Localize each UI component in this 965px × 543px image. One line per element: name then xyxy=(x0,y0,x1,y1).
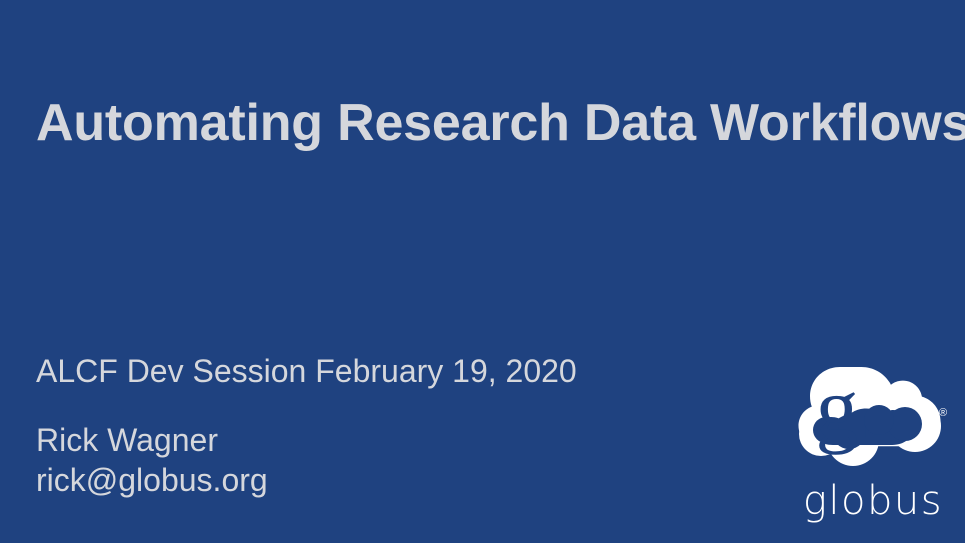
globus-cloud-svg: g ® xyxy=(793,362,953,480)
globus-cloud-icon: g ® xyxy=(793,362,953,480)
subtitle-block: ALCF Dev Session February 19, 2020 xyxy=(36,351,577,391)
presenter-block: Rick Wagner rick@globus.org xyxy=(36,420,268,500)
presentation-slide: Automating Research Data Workflows ALCF … xyxy=(0,0,965,543)
registered-trademark-icon: ® xyxy=(939,407,947,419)
globus-g-letter: g xyxy=(816,362,859,455)
page-title: Automating Research Data Workflows xyxy=(36,93,948,153)
globus-wordmark: globus xyxy=(793,478,953,524)
globus-logo: g ® globus xyxy=(793,362,953,532)
session-date-label: ALCF Dev Session February 19, 2020 xyxy=(36,351,577,391)
presenter-name: Rick Wagner xyxy=(36,420,268,460)
title-block: Automating Research Data Workflows xyxy=(36,93,948,153)
presenter-email: rick@globus.org xyxy=(36,460,268,500)
